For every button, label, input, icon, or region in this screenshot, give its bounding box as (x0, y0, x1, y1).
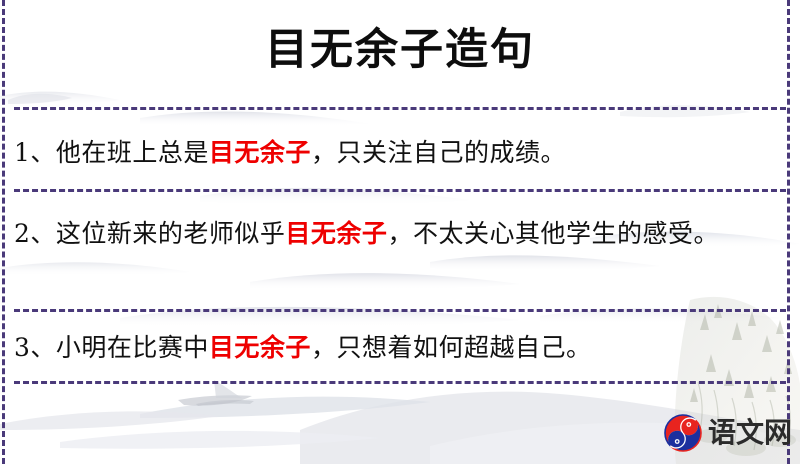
sentence-index-1: 1、 (14, 138, 56, 167)
idiom-highlight-1: 目无余子 (209, 138, 311, 167)
sentence-item-1: 1、他在班上总是目无余子，只关注自己的成绩。 (14, 131, 770, 174)
yin-yang-circle-icon (663, 413, 703, 453)
sentence-after-3: ，只想着如何超越自己。 (311, 333, 592, 362)
sentence-after-2: ，不太关心其他学生的感受。 (387, 219, 719, 248)
idiom-highlight-3: 目无余子 (209, 333, 311, 362)
sentence-item-2: 2、这位新来的老师似乎目无余子，不太关心其他学生的感受。 (14, 212, 770, 255)
idiom-highlight-2: 目无余子 (285, 219, 387, 248)
sentence-index-3: 3、 (14, 333, 56, 362)
divider-dashed-1 (14, 107, 786, 110)
worksheet-page: 目无余子造句 1、他在班上总是目无余子，只关注自己的成绩。 2、这位新来的老师似… (0, 0, 800, 464)
sentence-before-3: 小明在比赛中 (56, 333, 209, 362)
sentence-index-2: 2、 (14, 219, 56, 248)
divider-dashed-4 (14, 381, 786, 384)
divider-dashed-2 (14, 189, 786, 192)
site-logo[interactable]: 语文网 (663, 410, 793, 456)
sentence-before-2: 这位新来的老师似乎 (56, 219, 286, 248)
frame-border-right (787, 0, 790, 464)
page-title: 目无余子造句 (0, 22, 800, 78)
worksheet-content: 目无余子造句 1、他在班上总是目无余子，只关注自己的成绩。 2、这位新来的老师似… (0, 0, 800, 464)
sentence-item-3: 3、小明在比赛中目无余子，只想着如何超越自己。 (14, 326, 770, 369)
sentence-before-1: 他在班上总是 (56, 138, 209, 167)
sentence-after-1: ，只关注自己的成绩。 (311, 138, 566, 167)
frame-border-left (2, 0, 5, 464)
site-logo-text: 语文网 (708, 416, 792, 450)
divider-dashed-3 (14, 309, 786, 312)
